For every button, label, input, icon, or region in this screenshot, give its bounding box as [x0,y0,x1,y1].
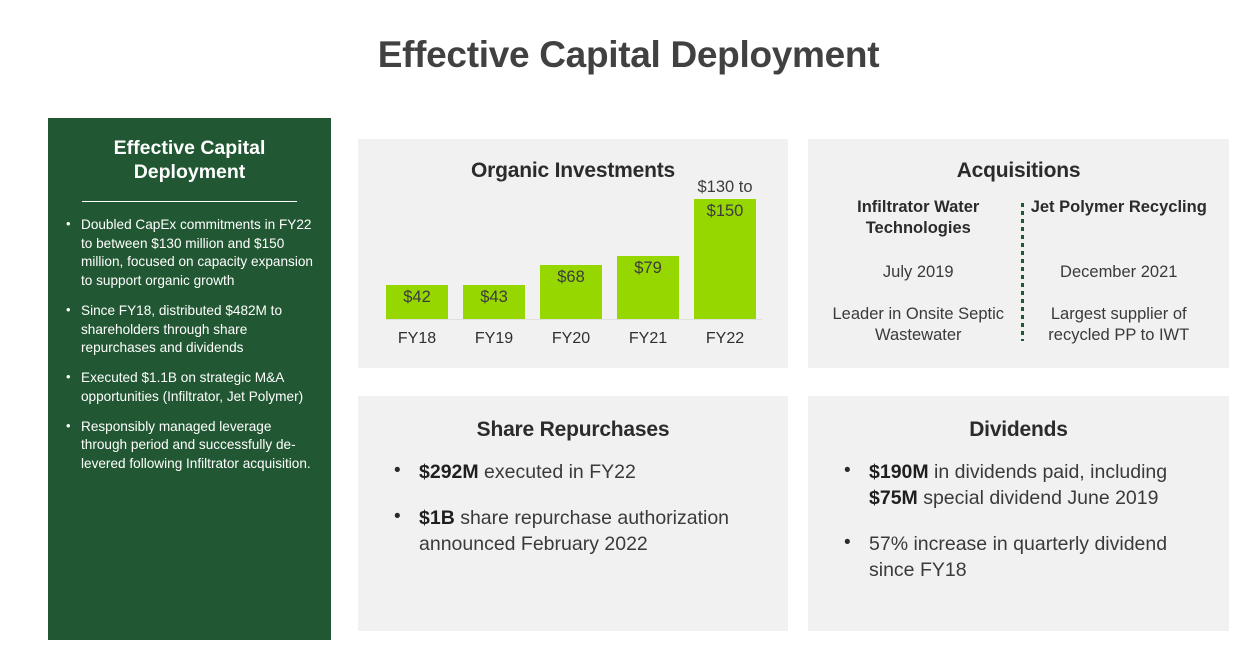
bar-value-label: $43 [463,288,525,307]
panel-dividends: Dividends $190M in dividends paid, inclu… [808,396,1229,631]
bar-fy22: $150 [694,199,756,319]
x-tick-label-fy20: FY20 [540,330,602,348]
emphasis-value: $75M [869,487,918,509]
bar-annotation-label: $130 to [686,178,764,197]
acquisition-name: Jet Polymer Recycling [1025,197,1214,241]
list-item: $292M executed in FY22 [386,460,774,486]
bar-value-label: $42 [386,288,448,307]
panel-title-acquisitions: Acquisitions [808,139,1229,183]
panel-title-dividends: Dividends [808,396,1229,442]
list-item: Since FY18, distributed $482M to shareho… [64,302,315,358]
share-repurchases-bullet-list: $292M executed in FY22$1B share repurcha… [386,460,774,578]
acquisition-item-jet-polymer: Jet Polymer Recycling December 2021 Larg… [1019,197,1220,347]
emphasis-value: $1B [419,507,455,529]
acquisition-date: July 2019 [824,263,1013,282]
panel-title-share-repurchases: Share Repurchases [358,396,788,442]
list-item: Executed $1.1B on strategic M&A opportun… [64,369,315,407]
panel-share-repurchases: Share Repurchases $292M executed in FY22… [358,396,788,631]
bar-chart: $42$43$68$79$150$130 to FY18FY19FY20FY21… [380,191,766,351]
list-item: $1B share repurchase authorization annou… [386,506,774,558]
x-tick-label-fy19: FY19 [463,330,525,348]
sidebar-title: Effective Capital Deployment [64,136,315,185]
x-tick-label-fy21: FY21 [617,330,679,348]
bar-fy21: $79 [617,256,679,319]
emphasis-value: $292M [419,461,479,483]
chart-title: Organic Investments [358,139,788,183]
acquisition-description: Largest supplier of recycled PP to IWT [1025,304,1214,347]
x-tick-label-fy22: FY22 [694,330,756,348]
chart-axis-line [386,319,762,321]
list-item: 57% increase in quarterly dividend since… [836,532,1215,584]
page-title: Effective Capital Deployment [0,34,1257,76]
sidebar-divider [82,201,297,202]
bar-value-label: $150 [694,202,756,221]
x-tick-label-fy18: FY18 [386,330,448,348]
chart-plot-area: $42$43$68$79$150$130 to [380,191,766,319]
acquisitions-columns: Infiltrator Water Technologies July 2019… [818,197,1219,347]
sidebar-bullet-list: Doubled CapEx commitments in FY22 to bet… [64,216,315,474]
acquisition-description: Leader in Onsite Septic Wastewater [824,304,1013,347]
list-item: $190M in dividends paid, including $75M … [836,460,1215,512]
dividends-bullet-list: $190M in dividends paid, including $75M … [836,460,1215,604]
acquisition-date: December 2021 [1025,263,1214,282]
panel-acquisitions: Acquisitions Infiltrator Water Technolog… [808,139,1229,368]
summary-sidebar: Effective Capital Deployment Doubled Cap… [48,118,331,640]
panel-organic-investments: Organic Investments $42$43$68$79$150$130… [358,139,788,368]
bar-value-label: $68 [540,268,602,287]
bar-fy19: $43 [463,285,525,319]
acquisition-item-infiltrator: Infiltrator Water Technologies July 2019… [818,197,1019,347]
bar-value-label: $79 [617,259,679,278]
emphasis-value: $190M [869,461,929,483]
bar-fy20: $68 [540,265,602,319]
list-item: Responsibly managed leverage through per… [64,418,315,474]
acquisition-name: Infiltrator Water Technologies [824,197,1013,241]
bar-fy18: $42 [386,285,448,319]
list-item: Doubled CapEx commitments in FY22 to bet… [64,216,315,291]
